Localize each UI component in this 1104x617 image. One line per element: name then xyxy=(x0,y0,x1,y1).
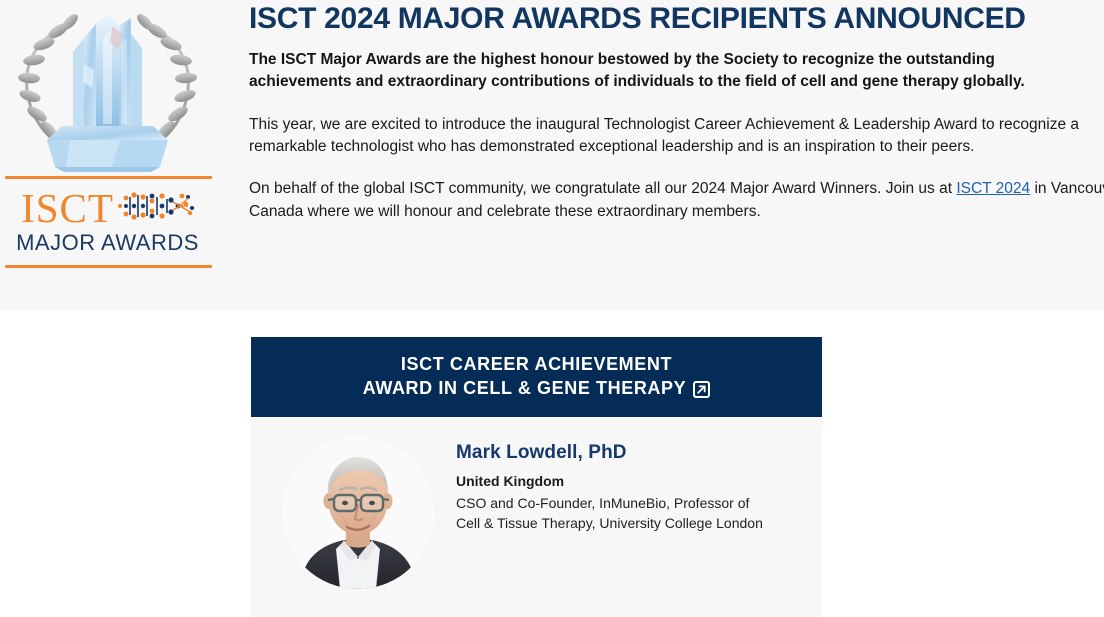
hero-text-column: ISCT 2024 MAJOR AWARDS RECIPIENTS ANNOUN… xyxy=(249,0,1104,223)
dna-helix-icon xyxy=(116,188,194,229)
award-banner[interactable]: ISCT CAREER ACHIEVEMENT AWARD IN CELL & … xyxy=(251,337,822,417)
recipient-name: Mark Lowdell, PhD xyxy=(456,442,776,465)
trophy-icon xyxy=(0,4,215,174)
hero-paragraph-3: On behalf of the global ISCT community, … xyxy=(249,178,1104,223)
hero-paragraph-2: This year, we are excited to introduce t… xyxy=(249,114,1104,159)
logo-major-awards-text: MAJOR AWARDS xyxy=(0,232,215,254)
avatar xyxy=(282,437,434,589)
hero-lead-paragraph: The ISCT Major Awards are the highest ho… xyxy=(249,49,1089,94)
award-banner-line-1: ISCT CAREER ACHIEVEMENT xyxy=(401,354,672,376)
logo-wordmark: ISCT xyxy=(0,186,215,254)
award-banner-line-2-row: AWARD IN CELL & GENE THERAPY xyxy=(363,378,711,400)
recipient-role: CSO and Co-Founder, InMuneBio, Professor… xyxy=(456,493,776,534)
recipient-row: Mark Lowdell, PhD United Kingdom CSO and… xyxy=(251,417,822,589)
page-title: ISCT 2024 MAJOR AWARDS RECIPIENTS ANNOUN… xyxy=(249,2,1104,36)
logo-divider-bottom xyxy=(5,265,212,268)
paragraph-3-text-before: On behalf of the global ISCT community, … xyxy=(249,180,956,197)
isct-major-awards-logo: ISCT xyxy=(0,0,215,283)
hero-section: ISCT xyxy=(0,0,1104,310)
external-link-arrow-icon[interactable] xyxy=(693,381,710,398)
award-banner-line-2: AWARD IN CELL & GENE THERAPY xyxy=(363,378,687,400)
award-card: ISCT CAREER ACHIEVEMENT AWARD IN CELL & … xyxy=(251,337,822,617)
logo-divider-top xyxy=(5,176,212,179)
recipient-info: Mark Lowdell, PhD United Kingdom CSO and… xyxy=(456,437,776,589)
logo-isct-text: ISCT xyxy=(21,188,114,229)
recipient-country: United Kingdom xyxy=(456,472,776,490)
page-root: ISCT xyxy=(0,0,1104,617)
isct-2024-link[interactable]: ISCT 2024 xyxy=(956,180,1030,197)
